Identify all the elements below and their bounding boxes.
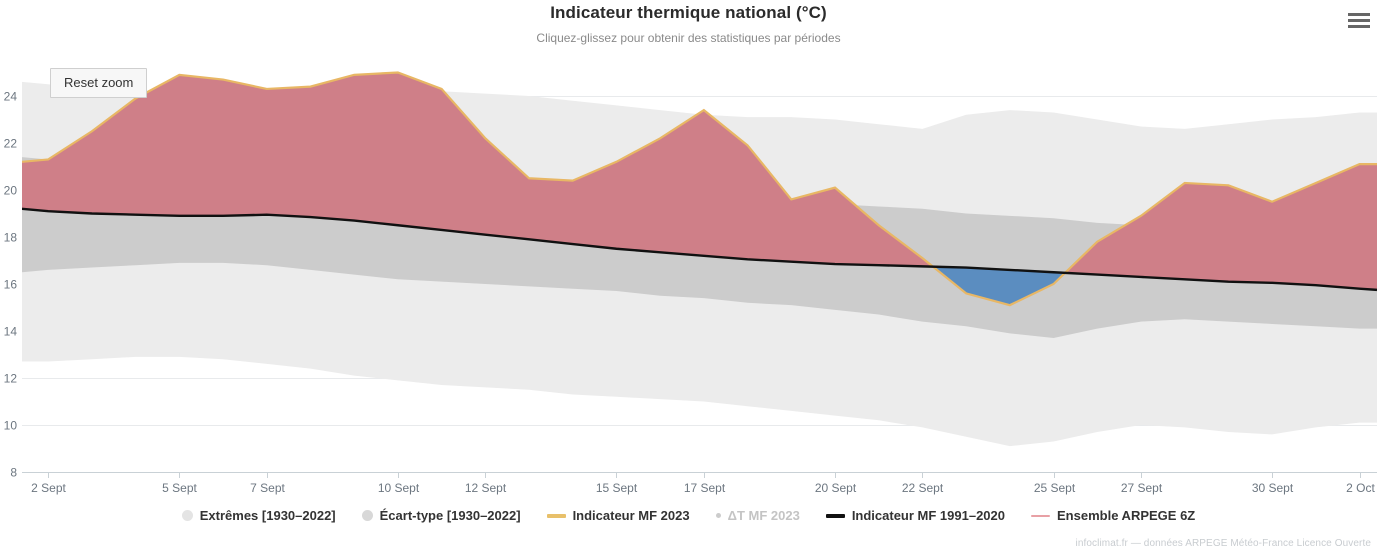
y-axis-tick-label: 8 (10, 466, 17, 480)
x-axis-tick-label: 17 Sept (684, 481, 726, 495)
y-axis-tick-label: 16 (4, 278, 18, 292)
reset-zoom-button[interactable]: Reset zoom (50, 68, 147, 98)
chart-container: Indicateur thermique national (°C) Cliqu… (0, 0, 1377, 554)
x-axis-tick-label: 15 Sept (596, 481, 638, 495)
x-axis-tick-label: 22 Sept (902, 481, 944, 495)
x-axis-tick-label: 30 Sept (1252, 481, 1294, 495)
legend-label: Indicateur MF 2023 (573, 508, 690, 523)
legend-line-icon (1031, 515, 1050, 517)
legend-item-extremes[interactable]: Extrêmes [1930–2022] (182, 508, 336, 523)
legend-label: Extrêmes [1930–2022] (200, 508, 336, 523)
x-axis-tick-label: 10 Sept (378, 481, 420, 495)
legend-label: ΔT MF 2023 (728, 508, 800, 523)
legend-line-icon (547, 514, 566, 518)
x-axis-tick-label: 7 Sept (250, 481, 285, 495)
y-axis-tick-label: 24 (4, 90, 18, 104)
legend-item-ecart-type[interactable]: Écart-type [1930–2022] (362, 508, 521, 523)
x-axis-labels: 2 Sept5 Sept7 Sept10 Sept12 Sept15 Sept1… (31, 472, 1375, 495)
x-axis-tick-label: 25 Sept (1034, 481, 1076, 495)
x-axis-tick-label: 5 Sept (162, 481, 197, 495)
x-axis-tick-label: 12 Sept (465, 481, 507, 495)
y-axis-tick-label: 18 (4, 231, 18, 245)
y-axis-tick-label: 20 (4, 184, 18, 198)
chart-credit: infoclimat.fr — données ARPEGE Météo-Fra… (1076, 538, 1371, 549)
chart-plot-area[interactable]: 81012141618202224 2 Sept5 Sept7 Sept10 S… (0, 0, 1377, 554)
x-axis-tick-label: 2 Oct (1346, 481, 1375, 495)
legend-item-delta-t-mf-2023[interactable]: ΔT MF 2023 (716, 508, 800, 523)
x-axis-tick-label: 27 Sept (1121, 481, 1163, 495)
legend-dot-icon (182, 510, 193, 521)
x-axis-tick-label: 2 Sept (31, 481, 66, 495)
legend-small-dot-icon (716, 513, 721, 518)
y-axis-tick-label: 12 (4, 372, 18, 386)
legend-dot-icon (362, 510, 373, 521)
legend-label: Écart-type [1930–2022] (380, 508, 521, 523)
y-axis-tick-label: 14 (4, 325, 18, 339)
legend-item-indicateur-mf-1991-2020[interactable]: Indicateur MF 1991–2020 (826, 508, 1005, 523)
y-axis-labels: 81012141618202224 (4, 90, 18, 480)
y-axis-tick-label: 22 (4, 137, 18, 151)
x-axis-tick-label: 20 Sept (815, 481, 857, 495)
chart-legend: Extrêmes [1930–2022]Écart-type [1930–202… (0, 508, 1377, 523)
legend-label: Indicateur MF 1991–2020 (852, 508, 1005, 523)
y-axis-tick-label: 10 (4, 419, 18, 433)
legend-item-ensemble-arpege-6z[interactable]: Ensemble ARPEGE 6Z (1031, 508, 1195, 523)
legend-line-icon (826, 514, 845, 518)
legend-item-indicateur-mf-2023[interactable]: Indicateur MF 2023 (547, 508, 690, 523)
legend-label: Ensemble ARPEGE 6Z (1057, 508, 1195, 523)
